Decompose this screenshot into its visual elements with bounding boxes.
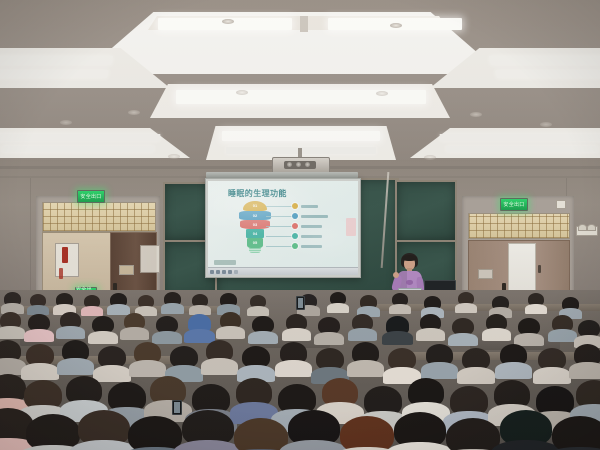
downlight-9 [168,154,180,159]
attendee [500,344,527,379]
list-item-label-3 [301,225,322,228]
downlight-4 [376,91,388,96]
slide-corner-badge [214,260,236,265]
presenter-sweater-motif [406,280,413,285]
ceiling-light-panel-7 [176,90,426,104]
attendee [394,412,446,450]
attendee [242,346,270,382]
list-item [292,203,318,209]
attendee [182,410,234,450]
ceiling-light-panel-12 [439,134,600,141]
list-item-label-2 [301,215,328,218]
list-item [292,233,322,239]
exit-sign-left-label: 安全出口 [78,191,104,202]
attendee [4,292,21,314]
list-item-label-1 [301,205,318,208]
exit-sign-left: 安全出口 [77,190,105,203]
leader-line-2 [266,216,292,217]
ceiling-light-panel-3 [0,56,113,65]
attendee [62,340,89,375]
attendee [574,344,600,379]
projection-screen: 睡眠的生理功能 01 02 03 04 05 [205,178,361,278]
attendee [60,312,81,339]
downlight-3 [236,90,248,95]
attendee [486,314,507,341]
list-item [292,243,322,249]
ceiling-light-panel-8 [0,134,161,141]
bulb-segment-05-number: 05 [253,241,257,245]
bulb-segment-02-number: 02 [253,214,257,218]
attendee [280,342,307,377]
exit-sign-right: 安全出口 [500,198,528,211]
attendee-with-hat [188,314,211,343]
bulb-segment-04-number: 04 [253,232,257,236]
ceiling-light-panel-10 [222,131,380,141]
browser-icon[interactable] [228,270,232,274]
wall-seam-left [30,178,31,308]
attendee [156,316,178,344]
attendee [552,315,573,342]
downlight-8 [540,122,552,127]
list-item [292,213,328,219]
attendee [250,295,266,316]
attendee [192,294,208,315]
attendee [518,318,540,346]
attendee [220,312,241,339]
attendee [110,293,127,315]
raised-phone-2[interactable] [172,400,182,415]
globe-icon [292,213,298,219]
attendee [552,416,600,450]
chalkboard-right-panel [395,180,457,242]
explorer-icon[interactable] [222,270,226,274]
downlight-2 [390,23,402,28]
right-door-lock[interactable] [538,265,541,273]
attendee [420,314,441,341]
downlight-7 [60,120,72,125]
exit-sign-right-label: 安全出口 [501,199,527,210]
audience [0,290,600,450]
ceiling-light-panel-4 [0,70,109,78]
left-door-transom [42,202,156,232]
attendee [92,316,114,344]
slide-content: 睡眠的生理功能 01 02 03 04 05 [208,181,358,275]
ceiling-light-panel-6 [495,70,600,78]
left-wall-panel-box [140,245,160,273]
ceiling-coffer-lower-left [0,128,190,158]
attendee [352,314,373,341]
attendee [134,342,161,377]
presenter-hand [393,272,399,278]
attendee [0,312,21,339]
attendee [26,344,54,380]
ceiling-beam-center [300,16,308,32]
fire-extinguisher [62,247,68,263]
bulb-segment-03-number: 03 [253,223,257,227]
raised-phone[interactable] [296,296,305,310]
projector-lens-3 [305,162,310,167]
attendee [330,292,346,313]
attendee [84,295,100,316]
bulb-base [249,248,261,253]
leader-line-5 [266,246,292,247]
right-wall-switch[interactable] [556,200,566,209]
presenter-fringe [402,255,417,261]
projector-lens-1 [287,162,292,167]
person-icon [292,203,298,209]
windows-taskbar[interactable] [208,267,358,275]
attendee [124,313,145,340]
attendee [78,410,130,450]
ceiling-light-panel-5 [489,56,600,65]
attendee [446,418,500,450]
downlight-6 [470,112,482,117]
leader-line-4 [266,236,292,237]
attendee [426,344,453,379]
start-icon[interactable] [210,270,214,274]
attendee [28,314,50,342]
ceiling-light-panel-9 [2,146,155,152]
wall-notice-pink [346,218,356,236]
attendee [30,294,46,315]
attendee-with-cap [386,316,409,345]
shield-icon [292,223,298,229]
attendee [340,416,394,450]
attendee [288,410,340,450]
heart-icon [292,233,298,239]
bulb-segment-03: 03 [240,220,270,229]
attendee [252,316,274,344]
ceiling-coffer-lower-right [410,128,600,158]
leader-line-1 [266,206,292,207]
downlight-1 [222,19,234,24]
list-item-label-5 [301,245,322,248]
attendee [462,348,490,384]
projector-lens-2 [296,162,301,167]
projector-lens-housing [284,161,316,169]
attendee [392,293,408,314]
attendee [452,318,474,346]
list-item [292,223,322,229]
attendee [538,348,566,384]
attendee [234,418,288,450]
attendee [206,340,233,375]
right-door-plate [478,269,493,279]
brain-icon [292,243,298,249]
downlight-5 [128,110,140,115]
attendee [528,293,544,314]
emergency-light-right [576,226,598,236]
attendee [318,317,340,345]
lecture-hall-photo: 安全出口 安全出口 安全出口 睡眠的生理功能 [0,0,600,450]
attendee [26,414,80,450]
attendee [458,292,474,313]
app-icon[interactable] [234,270,238,274]
attendee [128,416,182,450]
fire-extinguisher-secondary [59,268,63,279]
slide-title: 睡眠的生理功能 [228,188,287,199]
search-icon[interactable] [216,270,220,274]
list-item-label-4 [301,235,322,238]
attendee [352,342,379,377]
left-door-plate [119,265,134,275]
attendee [286,314,307,341]
bulb-segment-01: 01 [243,201,267,211]
ceiling-light-panel-13 [446,146,599,152]
attendee [164,292,181,314]
leader-line-3 [266,226,292,227]
bulb-segment-05: 05 [247,238,263,248]
attendee [500,410,552,450]
bulb-segment-01-number: 01 [253,204,257,208]
attendee [98,346,126,382]
attendee [0,340,21,375]
bulb-segment-04: 04 [246,229,264,238]
right-door-transom [468,213,570,239]
ceiling [0,0,600,172]
